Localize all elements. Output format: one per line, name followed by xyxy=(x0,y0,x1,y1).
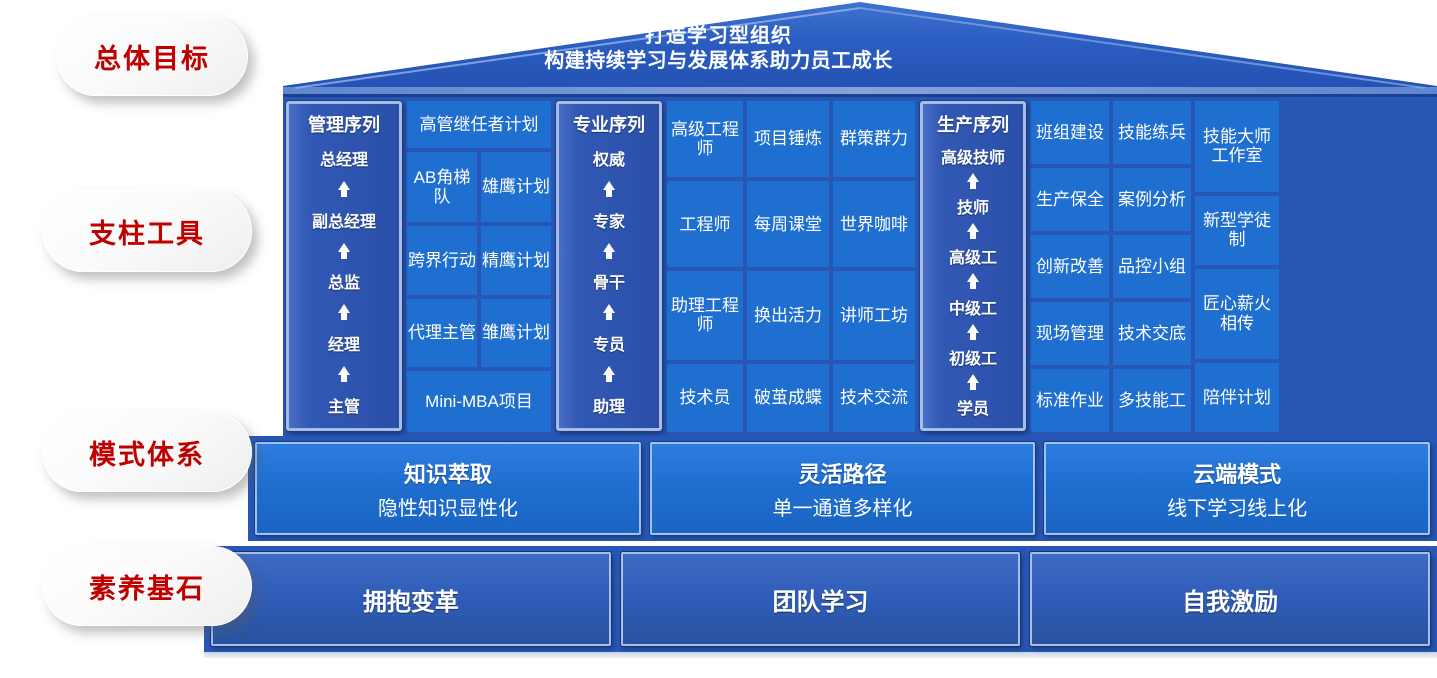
tool-row: 技术员 xyxy=(667,364,743,433)
mode-box-cloud-mode[interactable]: 云端模式 线下学习线上化 xyxy=(1044,442,1430,535)
arrow-up-icon xyxy=(967,223,979,239)
column-management-pillar: 管理序列 总经理 副总经理 总监 经理 主管 xyxy=(283,97,405,436)
ladder-level: 副总经理 xyxy=(312,208,376,232)
ladder-level: 高级技师 xyxy=(941,144,1005,168)
side-label-text: 总体目标 xyxy=(94,37,210,76)
tool-cell[interactable]: 代理主管 xyxy=(407,299,477,367)
ladder-level: 总监 xyxy=(328,269,360,293)
ladder-level: 总经理 xyxy=(320,146,368,170)
tool-cell[interactable]: 每周课堂 xyxy=(747,181,829,267)
tool-cell[interactable]: 创新改善 xyxy=(1031,235,1109,298)
grade-cell[interactable]: 工程师 xyxy=(667,181,743,267)
tool-row: 高管继任者计划 xyxy=(407,101,551,148)
tool-cell[interactable]: 匠心薪火相传 xyxy=(1195,269,1279,360)
diagram-canvas: 总体目标 支柱工具 模式体系 素养基石 xyxy=(0,0,1437,678)
column-production-pillar: 生产序列 高级技师 技师 高级工 中级工 初级工 学员 xyxy=(917,97,1029,436)
tool-row: 创新改善 xyxy=(1031,235,1109,298)
tool-row: 现场管理 xyxy=(1031,302,1109,365)
tool-row: AB角梯队 雄鹰计划 xyxy=(407,152,551,222)
side-label-text: 素养基石 xyxy=(89,567,205,606)
ladder-level: 技师 xyxy=(957,194,989,218)
tool-cell[interactable]: 品控小组 xyxy=(1113,235,1191,298)
ladder-level: 高级工 xyxy=(949,244,997,268)
mode-title: 云端模式 xyxy=(1193,457,1281,489)
tool-cell[interactable]: Mini-MBA项目 xyxy=(407,371,551,432)
tool-cell[interactable]: 技术交流 xyxy=(833,364,915,433)
mode-title: 知识萃取 xyxy=(404,457,492,489)
mode-subtitle: 单一通道多样化 xyxy=(773,492,913,521)
tool-cell[interactable]: 跨界行动 xyxy=(407,226,477,294)
pillar-ladder: 高级技师 技师 高级工 中级工 初级工 学员 xyxy=(927,141,1019,422)
foundation-box-team-learning[interactable]: 团队学习 xyxy=(621,552,1021,646)
pillar-management[interactable]: 管理序列 总经理 副总经理 总监 经理 主管 xyxy=(286,101,402,431)
arrow-up-icon xyxy=(967,324,979,340)
pillar-ladder: 总经理 副总经理 总监 经理 主管 xyxy=(293,141,395,422)
tool-row: 班组建设 xyxy=(1031,101,1109,164)
tool-row: 技术交底 xyxy=(1113,302,1191,365)
side-label-pillar-tools[interactable]: 支柱工具 xyxy=(42,190,252,272)
ladder-level: 主管 xyxy=(328,393,360,417)
tool-row: 陪伴计划 xyxy=(1195,363,1279,432)
side-label-mode-system[interactable]: 模式体系 xyxy=(42,412,252,492)
pillar-title: 专业序列 xyxy=(573,111,645,137)
tool-row: 跨界行动 精鹰计划 xyxy=(407,226,551,294)
tool-row: 换出活力 xyxy=(747,271,829,359)
tool-row: Mini-MBA项目 xyxy=(407,371,551,432)
mode-subtitle: 隐性知识显性化 xyxy=(378,492,518,521)
arrow-up-icon xyxy=(603,243,615,259)
tool-row: 破茧成蝶 xyxy=(747,364,829,433)
tool-row: 技能大师工作室 xyxy=(1195,101,1279,192)
tool-cell[interactable]: 讲师工坊 xyxy=(833,271,915,359)
pillar-production[interactable]: 生产序列 高级技师 技师 高级工 中级工 初级工 学员 xyxy=(920,101,1026,431)
column-professional-pillar: 专业序列 权威 专家 骨干 专员 助理 xyxy=(553,97,665,436)
roof-shape xyxy=(283,2,1437,94)
mode-system-row: 知识萃取 隐性知识显性化 灵活路径 单一通道多样化 云端模式 线下学习线上化 xyxy=(248,436,1437,541)
mode-subtitle: 线下学习线上化 xyxy=(1167,492,1307,521)
tool-cell[interactable]: 技能练兵 xyxy=(1113,101,1191,164)
grade-cell[interactable]: 技术员 xyxy=(667,364,743,433)
tool-cell[interactable]: 高管继任者计划 xyxy=(407,101,551,148)
tool-cell[interactable]: 世界咖啡 xyxy=(833,181,915,267)
ladder-level: 专家 xyxy=(593,208,625,232)
side-label-foundation[interactable]: 素养基石 xyxy=(42,546,252,626)
ladder-level: 中级工 xyxy=(949,295,997,319)
foundation-row: 拥抱变革 团队学习 自我激励 xyxy=(204,546,1437,652)
ladder-level: 权威 xyxy=(593,146,625,170)
tool-row: 标准作业 xyxy=(1031,369,1109,432)
grade-cell[interactable]: 助理工程师 xyxy=(667,271,743,359)
tool-cell[interactable]: 雏鹰计划 xyxy=(481,299,551,367)
ladder-level: 学员 xyxy=(957,395,989,419)
tool-cell[interactable]: 现场管理 xyxy=(1031,302,1109,365)
tool-cell[interactable]: 换出活力 xyxy=(747,271,829,359)
tool-row: 品控小组 xyxy=(1113,235,1191,298)
column-production-tools-b: 技能练兵 案例分析 品控小组 技术交底 多技能工 xyxy=(1111,97,1193,436)
tool-row: 助理工程师 xyxy=(667,271,743,359)
mode-title: 灵活路径 xyxy=(799,457,887,489)
tool-row: 项目锤炼 xyxy=(747,101,829,177)
side-label-overall-goal[interactable]: 总体目标 xyxy=(56,16,248,96)
grade-cell[interactable]: 高级工程师 xyxy=(667,101,743,177)
tool-cell[interactable]: 技术交底 xyxy=(1113,302,1191,365)
column-production-tools-a: 班组建设 生产保全 创新改善 现场管理 标准作业 xyxy=(1029,97,1111,436)
tool-cell[interactable]: 陪伴计划 xyxy=(1195,363,1279,432)
ground-line xyxy=(204,652,1437,658)
tool-row: 技能练兵 xyxy=(1113,101,1191,164)
ladder-level: 助理 xyxy=(593,393,625,417)
foundation-box-embrace-change[interactable]: 拥抱变革 xyxy=(211,552,611,646)
tool-cell[interactable]: 案例分析 xyxy=(1113,168,1191,231)
tool-row: 案例分析 xyxy=(1113,168,1191,231)
tool-row: 生产保全 xyxy=(1031,168,1109,231)
tool-row: 每周课堂 xyxy=(747,181,829,267)
tool-cell[interactable]: 多技能工 xyxy=(1113,369,1191,432)
tool-cell[interactable]: 雄鹰计划 xyxy=(481,152,551,222)
house-body: 管理序列 总经理 副总经理 总监 经理 主管 高管继任者计划 xyxy=(283,94,1437,436)
pillar-ladder: 权威 专家 骨干 专员 助理 xyxy=(563,141,655,422)
side-label-text: 支柱工具 xyxy=(89,212,205,251)
tool-row: 匠心薪火相传 xyxy=(1195,269,1279,360)
tool-cell[interactable]: 技能大师工作室 xyxy=(1195,101,1279,192)
mode-box-knowledge-extraction[interactable]: 知识萃取 隐性知识显性化 xyxy=(255,442,641,535)
column-professional-tools-b: 群策群力 世界咖啡 讲师工坊 技术交流 xyxy=(831,97,917,436)
mode-box-flexible-path[interactable]: 灵活路径 单一通道多样化 xyxy=(650,442,1036,535)
tool-row: 高级工程师 xyxy=(667,101,743,177)
arrow-up-icon xyxy=(603,366,615,382)
column-professional-tools-a: 项目锤炼 每周课堂 换出活力 破茧成蝶 xyxy=(745,97,831,436)
ladder-level: 骨干 xyxy=(593,269,625,293)
arrow-up-icon xyxy=(603,181,615,197)
ladder-level: 初级工 xyxy=(949,345,997,369)
tool-cell[interactable]: 精鹰计划 xyxy=(481,226,551,294)
side-label-text: 模式体系 xyxy=(89,433,205,472)
tool-cell[interactable]: 破茧成蝶 xyxy=(747,364,829,433)
arrow-up-icon xyxy=(338,243,350,259)
tool-cell[interactable]: 班组建设 xyxy=(1031,101,1109,164)
arrow-up-icon xyxy=(338,304,350,320)
column-professional-grades: 高级工程师 工程师 助理工程师 技术员 xyxy=(665,97,745,436)
tool-row: 世界咖啡 xyxy=(833,181,915,267)
arrow-up-icon xyxy=(603,304,615,320)
tool-cell[interactable]: 项目锤炼 xyxy=(747,101,829,177)
pillar-title: 管理序列 xyxy=(308,111,380,137)
arrow-up-icon xyxy=(967,374,979,390)
ladder-level: 经理 xyxy=(328,331,360,355)
tool-row: 技术交流 xyxy=(833,364,915,433)
tool-row: 代理主管 雏鹰计划 xyxy=(407,299,551,367)
tool-cell[interactable]: AB角梯队 xyxy=(407,152,477,222)
tool-cell[interactable]: 新型学徒制 xyxy=(1195,196,1279,265)
foundation-box-self-motivation[interactable]: 自我激励 xyxy=(1030,552,1430,646)
tool-row: 讲师工坊 xyxy=(833,271,915,359)
column-production-tools-c: 技能大师工作室 新型学徒制 匠心薪火相传 陪伴计划 xyxy=(1193,97,1281,436)
column-management-tools: 高管继任者计划 AB角梯队 雄鹰计划 跨界行动 精鹰计划 代理主管 雏鹰计划 M… xyxy=(405,97,553,436)
tool-row: 新型学徒制 xyxy=(1195,196,1279,265)
tool-cell[interactable]: 群策群力 xyxy=(833,101,915,177)
tool-row: 多技能工 xyxy=(1113,369,1191,432)
arrow-up-icon xyxy=(967,173,979,189)
pillar-professional[interactable]: 专业序列 权威 专家 骨干 专员 助理 xyxy=(556,101,662,431)
tool-row: 工程师 xyxy=(667,181,743,267)
pillar-title: 生产序列 xyxy=(937,111,1009,137)
arrow-up-icon xyxy=(338,366,350,382)
arrow-up-icon xyxy=(338,181,350,197)
tool-cell[interactable]: 生产保全 xyxy=(1031,168,1109,231)
tool-row: 群策群力 xyxy=(833,101,915,177)
arrow-up-icon xyxy=(967,273,979,289)
ladder-level: 专员 xyxy=(593,331,625,355)
tool-cell[interactable]: 标准作业 xyxy=(1031,369,1109,432)
